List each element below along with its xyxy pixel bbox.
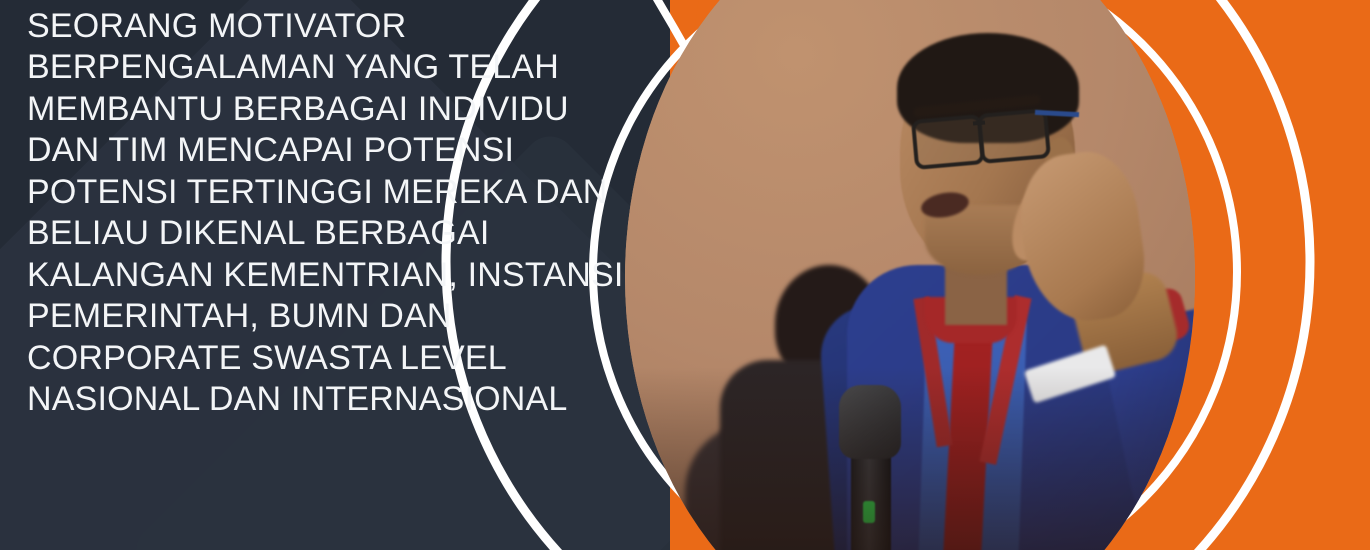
body-text-line: POTENSI TERTINGGI MEREKA DAN — [27, 172, 617, 214]
speaker-photo-frame — [625, 0, 1195, 550]
body-text-line: BELIAU DIKENAL BERBAGAI — [27, 213, 617, 255]
body-text-line: MEMBANTU BERBAGAI INDIVIDU — [27, 89, 617, 131]
photo-contents — [625, 0, 1195, 550]
body-text-line: NASIONAL DAN INTERNASIONAL — [27, 379, 617, 421]
body-text-line: SEORANG MOTIVATOR — [27, 6, 617, 48]
eyeglasses-lens-right — [977, 108, 1051, 164]
body-text-line: PEMERINTAH, BUMN DAN — [27, 296, 617, 338]
body-text-line: DAN TIM MENCAPAI POTENSI — [27, 130, 617, 172]
body-text-line: BERPENGALAMAN YANG TELAH — [27, 47, 617, 89]
body-text-line: COACH DIAN SAPUTRA ADALAH — [27, 0, 617, 6]
body-text-line: KALANGAN KEMENTRIAN, INSTANSI — [27, 255, 617, 297]
body-text-line: CORPORATE SWASTA LEVEL — [27, 338, 617, 380]
slide-canvas: COACH DIAN SAPUTRA ADALAH SEORANG MOTIVA… — [0, 0, 1370, 550]
photo-vignette — [625, 367, 1195, 550]
speaker-photo — [625, 0, 1195, 550]
body-text-block: COACH DIAN SAPUTRA ADALAH SEORANG MOTIVA… — [27, 0, 617, 421]
